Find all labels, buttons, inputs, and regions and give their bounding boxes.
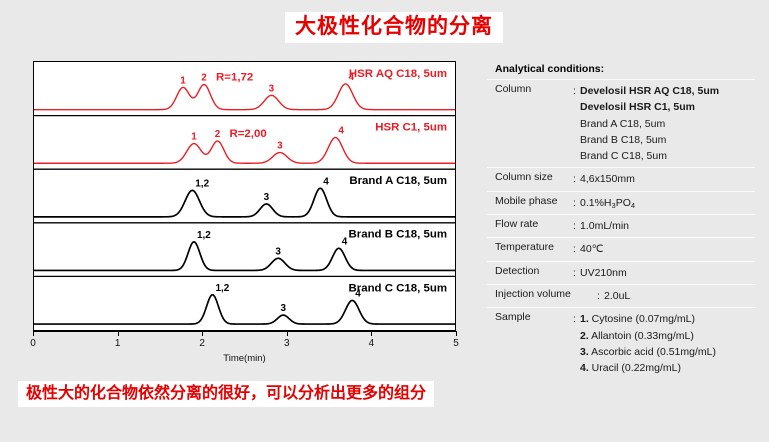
peak-label: 1 [180,76,186,87]
peak-label: 4 [342,236,348,247]
conditions-value-line: 4. Uracil (0.22mg/mL) [573,360,755,376]
conditions-value-line: 2. Allantoin (0.33mg/mL) [573,328,755,344]
caption-text: 极性大的化合物依然分离的很好，可以分析出更多的组分 [26,384,426,403]
conditions-value-line: :UV210nm [573,265,755,281]
x-tick [287,331,288,336]
conditions-value-line: 3. Ascorbic acid (0.51mg/mL) [573,344,755,360]
analytical-conditions-panel: Analytical conditions: Column:Develosil … [487,61,755,371]
peak-label: 1,2 [197,230,211,241]
conditions-row-key: Injection volume [487,288,597,300]
peak-label: 1,2 [195,178,209,189]
conditions-row-key: Column [487,83,573,95]
chromatogram-trace [34,188,455,217]
conditions-row: Mobile phase:0.1%H3PO4 [487,191,755,215]
chromatogram-trace [34,84,455,110]
x-tick-label: 3 [284,338,290,349]
conditions-row-value: :1. Cytosine (0.07mg/mL)2. Allantoin (0.… [573,311,755,376]
conditions-value-line: :4,6x150mm [573,171,755,187]
resolution-label: R=2,00 [229,128,266,140]
x-tick [33,331,34,336]
x-axis-line [33,331,456,332]
conditions-row-value: :UV210nm [573,265,755,281]
conditions-row-key: Mobile phase [487,195,573,207]
conditions-row: Flow rate:1.0mL/min [487,214,755,237]
peak-label: 4 [338,126,344,137]
conditions-value-line: :1.0mL/min [573,218,755,234]
x-tick-label: 1 [115,338,121,349]
conditions-row: Injection volume:2.0uL [487,284,755,307]
conditions-row: Temperature:40℃ [487,237,755,260]
x-tick-label: 5 [453,338,459,349]
peak-label: 2 [201,73,207,84]
conditions-value-line: :40℃ [573,241,755,257]
trace-name-label: Brand C C18, 5um [349,282,448,294]
trace-name-label: HSR C1, 5um [375,122,447,134]
chromatogram-trace [34,138,455,164]
title-banner: 大极性化合物的分离 [285,12,503,43]
conditions-value-line: :1. Cytosine (0.07mg/mL) [573,311,755,327]
x-tick [371,331,372,336]
conditions-row-key: Temperature [487,241,573,253]
page-title: 大极性化合物的分离 [295,15,493,39]
conditions-row-value: :0.1%H3PO4 [573,195,755,212]
trace-name-label: Brand A C18, 5um [349,175,447,187]
x-tick-label: 2 [199,338,205,349]
x-tick [118,331,119,336]
conditions-row: Sample:1. Cytosine (0.07mg/mL)2. Allanto… [487,307,755,379]
x-tick-label: 4 [369,338,375,349]
chromatogram-trace [34,242,455,271]
conditions-row-key: Column size [487,171,573,183]
x-tick [456,331,457,336]
peak-label: 3 [280,303,286,314]
x-axis: 012345 Time(min) [33,331,456,371]
peak-label: 3 [277,141,283,152]
conditions-row-key: Detection [487,265,573,277]
conditions-row: Column size:4,6x150mm [487,167,755,190]
conditions-value-line: :2.0uL [597,288,755,304]
conditions-row: Detection:UV210nm [487,261,755,284]
conditions-heading: Analytical conditions: [487,61,755,79]
peak-label: 4 [323,176,329,187]
peak-label: 3 [264,192,270,203]
conditions-value-line: Brand A C18, 5um [573,116,755,132]
conditions-value-line: Brand B C18, 5um [573,132,755,148]
conditions-rows: Column:Develosil HSR AQ C18, 5umDevelosi… [487,79,755,379]
chromatogram-trace [34,295,455,324]
x-tick [202,331,203,336]
trace-name-label: Brand B C18, 5um [349,229,448,241]
conditions-value-line: Develosil HSR C1, 5um [573,99,755,115]
x-axis-title: Time(min) [223,353,265,364]
conditions-row-key: Sample [487,311,573,323]
peak-label: 3 [275,246,281,257]
conditions-row-value: :Develosil HSR AQ C18, 5umDevelosil HSR … [573,83,755,164]
peak-label: 1,2 [215,283,229,294]
x-tick-label: 0 [30,338,36,349]
conditions-value-line: Brand C C18, 5um [573,148,755,164]
resolution-label: R=1,72 [216,72,253,84]
conditions-value-line: :Develosil HSR AQ C18, 5um [573,83,755,99]
conditions-row-value: :1.0mL/min [573,218,755,234]
peak-label: 2 [215,129,221,140]
conditions-row-value: :4,6x150mm [573,171,755,187]
conditions-row-value: :40℃ [573,241,755,257]
conditions-value-line: :0.1%H3PO4 [573,195,755,212]
conditions-row: Column:Develosil HSR AQ C18, 5umDevelosi… [487,79,755,167]
conditions-row-key: Flow rate [487,218,573,230]
conditions-row-value: :2.0uL [597,288,755,304]
trace-name-label: HSR AQ C18, 5um [349,68,447,80]
caption-banner: 极性大的化合物依然分离的很好，可以分析出更多的组分 [18,381,434,407]
peak-label: 3 [269,83,275,94]
peak-label: 1 [191,132,197,143]
chromatogram-panel: 1234R=1,72HSR AQ C18, 5um1234R=2,00HSR C… [33,61,456,331]
chromatogram-svg: 1234R=1,72HSR AQ C18, 5um1234R=2,00HSR C… [34,62,455,330]
